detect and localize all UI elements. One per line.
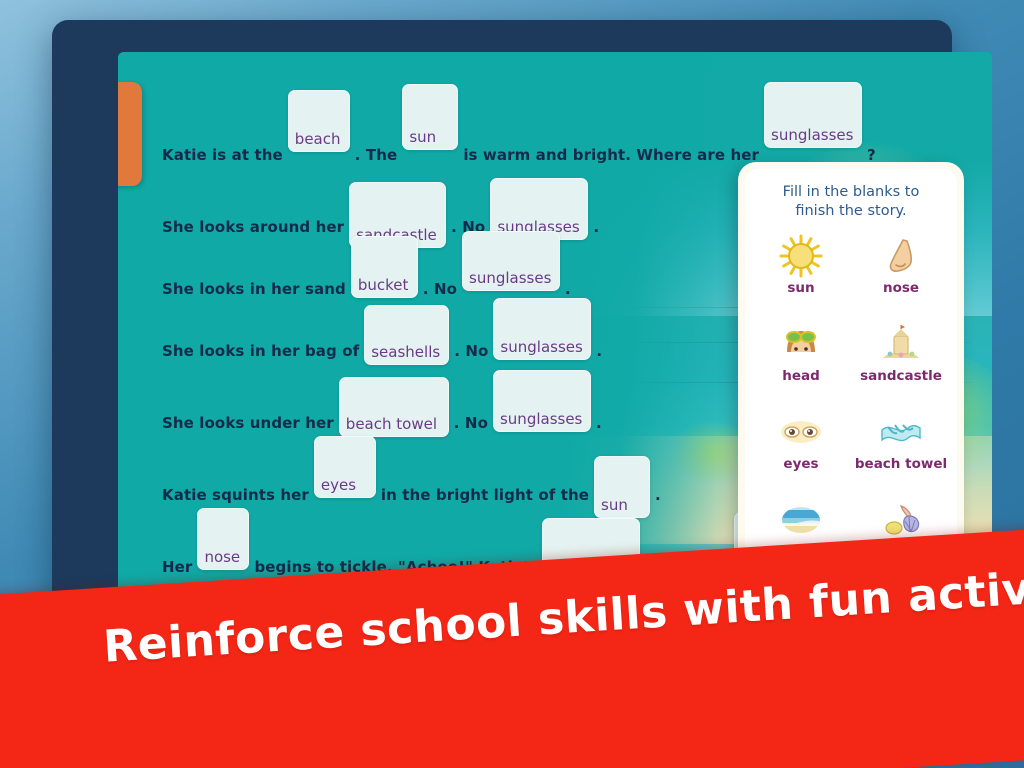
beach-icon <box>779 496 823 542</box>
word-bank-item[interactable]: eyes <box>751 408 851 486</box>
promo-screenshot: Katie is at thebeach. Thesunis warm and … <box>0 0 1024 768</box>
word-bank-item-label: eyes <box>783 456 818 472</box>
answer-tile[interactable]: sunglasses <box>764 82 862 148</box>
answer-tile-word: eyes <box>315 478 362 497</box>
story-text-segment: She looks in her sand <box>162 280 346 298</box>
answer-tile-word: beach <box>289 132 347 151</box>
answer-tile[interactable]: seashells <box>364 305 449 365</box>
word-bank-title: Fill in the blanks to finish the story. <box>751 183 951 220</box>
word-bank-item[interactable]: nose <box>851 232 951 310</box>
seashells-icon <box>879 496 923 542</box>
word-bank-item[interactable]: sun <box>751 232 851 310</box>
story-text-segment: Her <box>162 558 192 576</box>
word-bank-item-label: head <box>782 368 820 384</box>
word-bank-item[interactable]: head <box>751 320 851 398</box>
word-bank-item[interactable]: sandcastle <box>851 320 951 398</box>
answer-tile[interactable]: bucket <box>351 236 418 298</box>
word-bank-title-line1: Fill in the blanks to <box>751 183 951 202</box>
head-icon <box>779 320 823 366</box>
story-text-segment: is warm and bright. Where are her <box>463 146 759 164</box>
answer-tile-word: beach towel <box>340 417 443 436</box>
answer-tile-word: bucket <box>352 278 415 297</box>
answer-tile-word: seashells <box>365 345 446 364</box>
answer-tile[interactable]: eyes <box>314 436 376 498</box>
story-text-segment: Katie squints her <box>162 486 309 504</box>
story-text-segment: in the bright light of the <box>381 486 589 504</box>
answer-tile-word: sun <box>403 130 442 149</box>
story-sentence: She looks under herbeach towel. Nosungla… <box>162 408 602 438</box>
word-bank-item-label: sun <box>787 280 814 296</box>
sun-icon <box>779 232 823 278</box>
answer-tile-word: nose <box>198 550 246 569</box>
story-text-segment: . <box>596 342 602 360</box>
answer-tile[interactable]: nose <box>197 508 249 570</box>
answer-tile[interactable]: sunglasses <box>493 370 591 432</box>
answer-tile-word: sunglasses <box>494 412 588 431</box>
answer-tile[interactable]: sunglasses <box>462 231 560 291</box>
story-sentence: Katie squints hereyesin the bright light… <box>162 480 661 510</box>
promo-banner-text: Reinforce school skills with fun activit… <box>102 565 1003 672</box>
story-text-segment: . No <box>454 414 488 432</box>
answer-tile[interactable]: beach <box>288 90 350 152</box>
word-bank-item-label: sandcastle <box>860 368 942 384</box>
word-bank-item-label: nose <box>883 280 919 296</box>
story-text-segment: . <box>593 218 599 236</box>
story-text-segment: . <box>565 280 571 298</box>
story-text-segment: . The <box>355 146 398 164</box>
answer-tile-word: sunglasses <box>463 271 557 290</box>
nose-icon <box>879 232 923 278</box>
story-text-segment: She looks under her <box>162 414 334 432</box>
story-sentence: She looks in her bag ofseashells. Nosung… <box>162 336 602 366</box>
story-text-segment: . No <box>454 342 488 360</box>
answer-tile[interactable]: sun <box>402 84 458 150</box>
beach-towel-icon <box>879 408 923 454</box>
answer-tile[interactable]: sunglasses <box>493 298 591 360</box>
answer-tile[interactable]: sun <box>594 456 650 518</box>
story-text-segment: . <box>655 486 661 504</box>
answer-tile-word: sunglasses <box>494 340 588 359</box>
story-text-segment: Katie is at the <box>162 146 283 164</box>
sandcastle-icon <box>879 320 923 366</box>
answer-tile-word: sun <box>595 498 634 517</box>
story-text-segment: . <box>596 414 602 432</box>
story-text-segment: She looks in her bag of <box>162 342 359 360</box>
story-text-segment: She looks around her <box>162 218 344 236</box>
word-bank-title-line2: finish the story. <box>751 202 951 221</box>
answer-tile-word: sunglasses <box>765 128 859 147</box>
story-text-segment: . No <box>423 280 457 298</box>
answer-tile[interactable]: beach towel <box>339 377 449 437</box>
word-bank-item-label: beach towel <box>855 456 947 472</box>
word-bank-item[interactable]: beach towel <box>851 408 951 486</box>
eyes-icon <box>779 408 823 454</box>
